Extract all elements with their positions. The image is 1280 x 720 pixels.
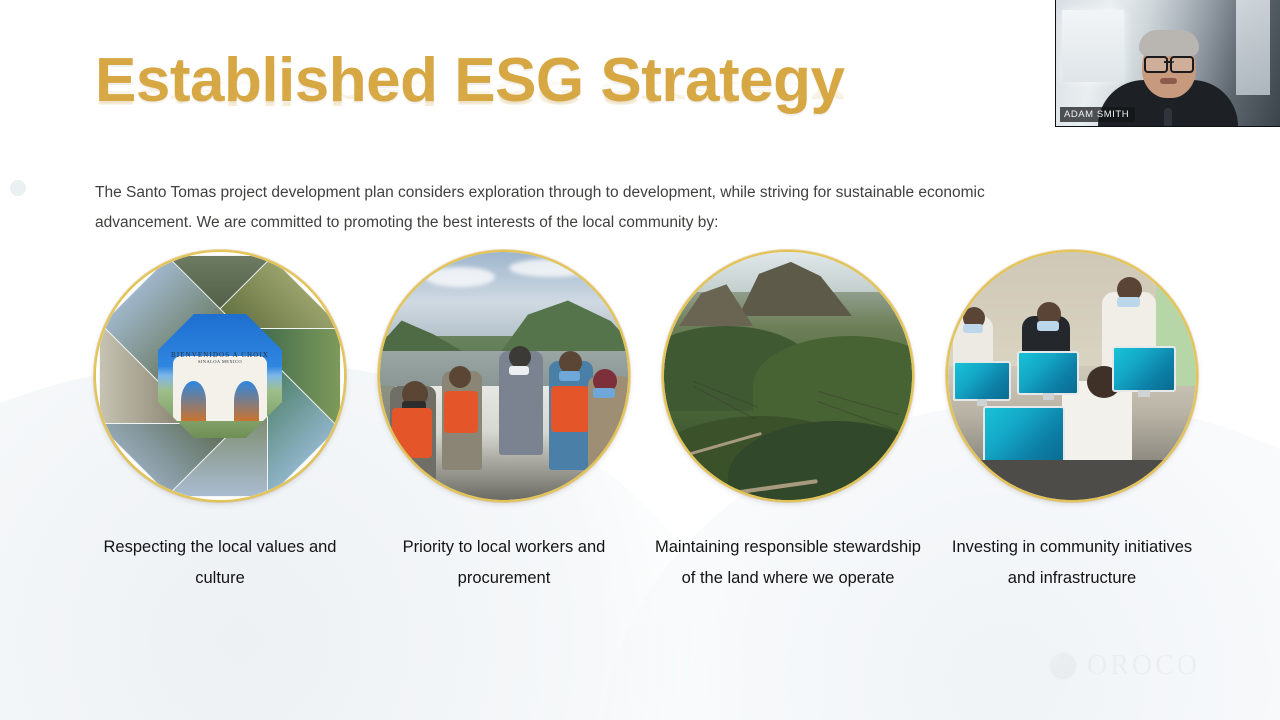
pillar-2-caption: Priority to local workers and procuremen… [370,532,638,593]
oroco-wordmark: OROCO [1087,650,1200,682]
decorative-dot [10,180,26,196]
oroco-globe-emblem [1048,651,1078,681]
glasses-icon [1144,56,1194,69]
oroco-watermark: OROCO [1048,650,1200,682]
choix-welcome-arch: BIENVENIDOS A CHOIX SINALOA MEXICO [158,314,282,438]
pillar-4-image [946,250,1198,502]
community-computer-lab-photo [948,252,1196,500]
pillar-2-image [378,250,630,502]
slide-body-text: The Santo Tomas project development plan… [95,178,1188,238]
pillar-1: BIENVENIDOS A CHOIX SINALOA MEXICO [86,250,354,502]
slide-title-area: Established ESG Strategy Established ESG… [95,48,915,158]
pillar-3 [654,250,922,502]
page-title: Established ESG Strategy [95,48,915,113]
pillar-4 [938,250,1206,502]
choix-welcome-text: BIENVENIDOS A CHOIX SINALOA MEXICO [158,351,282,364]
pillar-image-row: BIENVENIDOS A CHOIX SINALOA MEXICO [86,250,1206,520]
pillar-caption-row: Respecting the local values and culture … [86,532,1206,593]
body-line-1: The Santo Tomas project development plan… [95,184,985,201]
microphone-icon [1164,108,1172,126]
presentation-slide: Established ESG Strategy Established ESG… [0,0,1280,720]
webcam-participant-name: ADAM SMITH [1060,107,1135,122]
local-workers-on-boat-photo [380,252,628,500]
pillar-3-caption: Maintaining responsible stewardship of t… [654,532,922,593]
pillar-4-caption: Investing in community initiatives and i… [938,532,1206,593]
webcam-video-overlay[interactable]: ADAM SMITH [1055,0,1280,127]
body-line-2: advancement. We are committed to promoti… [95,208,1188,238]
pillar-2 [370,250,638,502]
webcam-window-right [1236,0,1270,95]
pillar-1-caption: Respecting the local values and culture [86,532,354,593]
pillar-1-image: BIENVENIDOS A CHOIX SINALOA MEXICO [94,250,346,502]
pillar-3-image [662,250,914,502]
choix-town-photo-collage: BIENVENIDOS A CHOIX SINALOA MEXICO [96,252,344,500]
mountain-landscape-photo [664,252,912,500]
